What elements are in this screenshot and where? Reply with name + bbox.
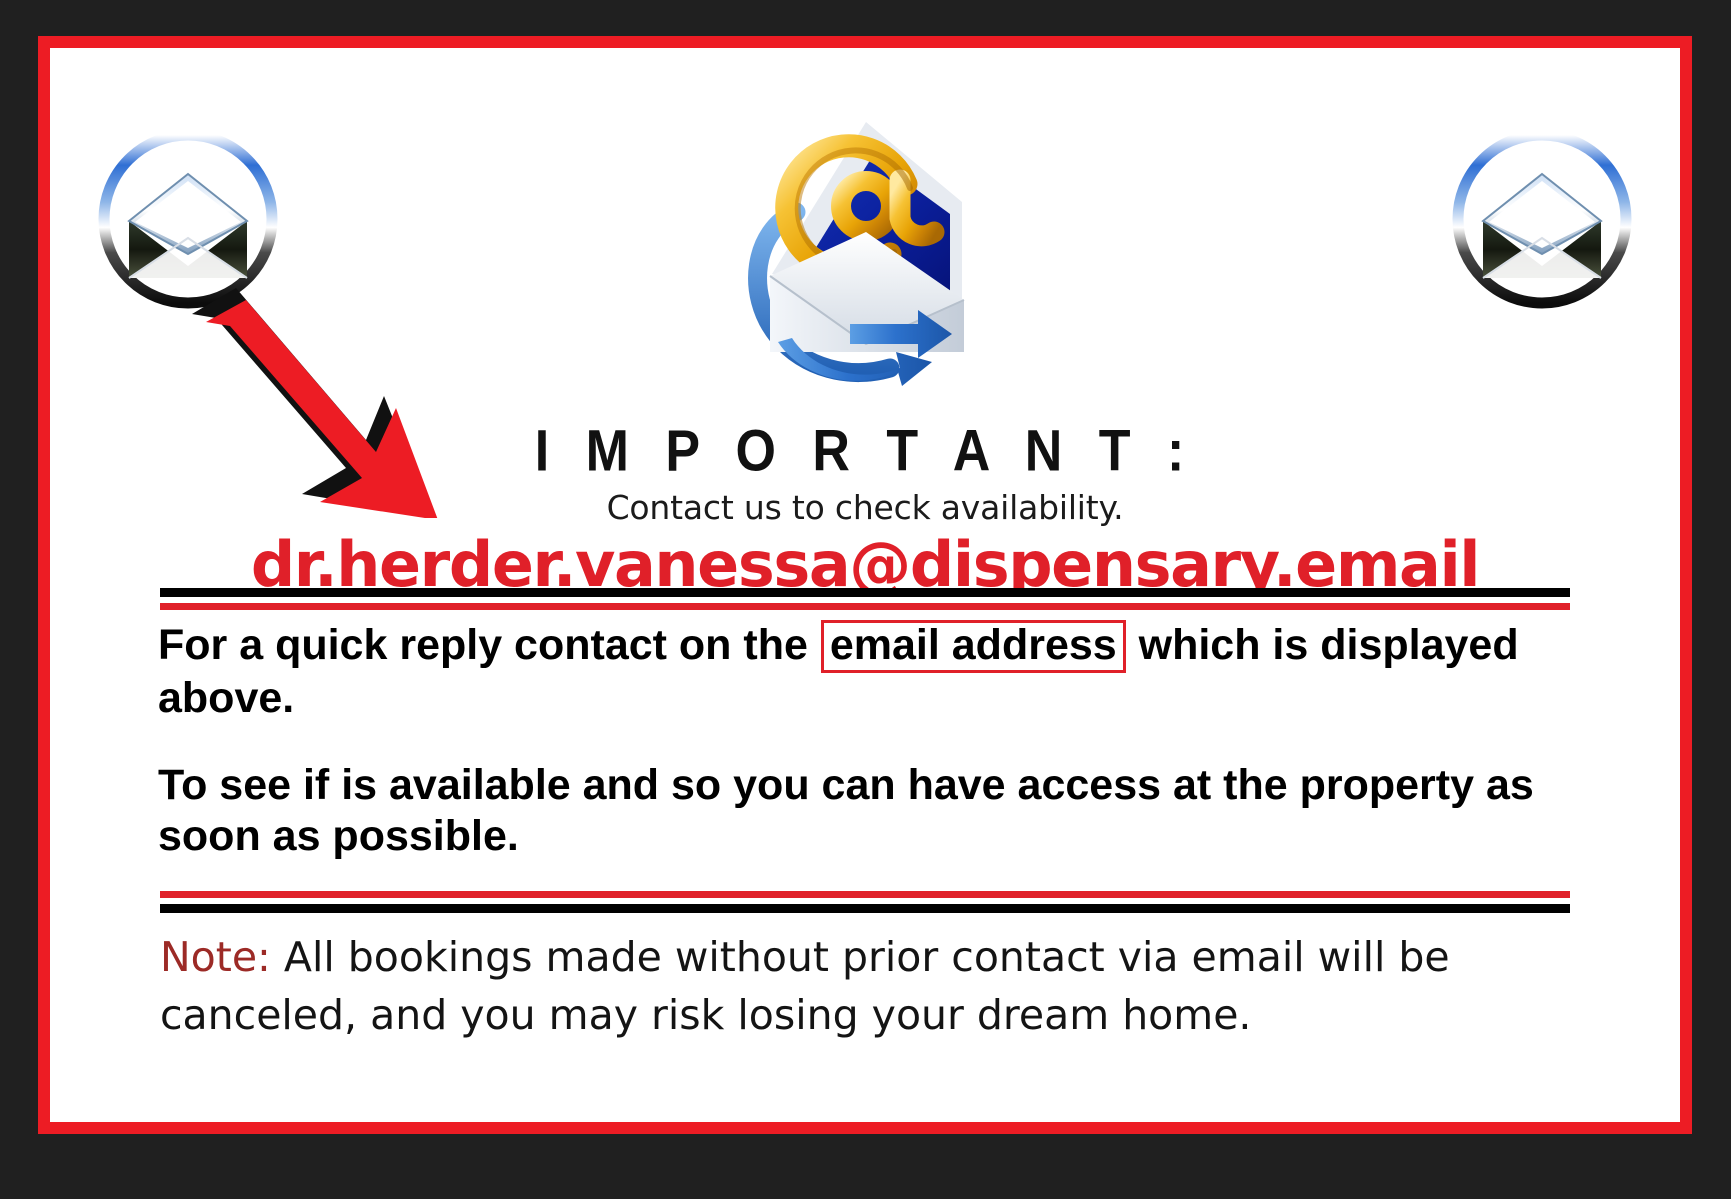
subtitle: Contact us to check availability.	[50, 488, 1680, 527]
poster-card: I M P O R T A N T : Contact us to check …	[50, 48, 1680, 1122]
page-title: I M P O R T A N T :	[50, 418, 1680, 485]
paragraph-two: To see if is available and so you can ha…	[158, 760, 1578, 861]
poster-background: I M P O R T A N T : Contact us to check …	[0, 0, 1731, 1199]
note-text: All bookings made without prior contact …	[160, 933, 1450, 1039]
divider-top-red-line	[160, 603, 1570, 610]
envelope-circle-icon-right	[1449, 126, 1635, 312]
divider-top-black-line	[160, 588, 1570, 597]
paragraph-one: For a quick reply contact on the email a…	[158, 620, 1578, 724]
note-label: Note:	[160, 933, 271, 981]
paragraph-one-before: For a quick reply contact on the	[158, 621, 808, 669]
at-symbol-envelope-icon	[700, 62, 1030, 397]
poster-red-frame: I M P O R T A N T : Contact us to check …	[38, 36, 1692, 1134]
note-block: Note: All bookings made without prior co…	[160, 928, 1590, 1044]
divider-top	[160, 588, 1570, 610]
email-address-highlight-box: email address	[821, 620, 1126, 673]
divider-bottom-red-line	[160, 891, 1570, 898]
divider-bottom	[160, 891, 1570, 913]
divider-bottom-black-line	[160, 904, 1570, 913]
envelope-circle-icon-left	[95, 126, 281, 312]
